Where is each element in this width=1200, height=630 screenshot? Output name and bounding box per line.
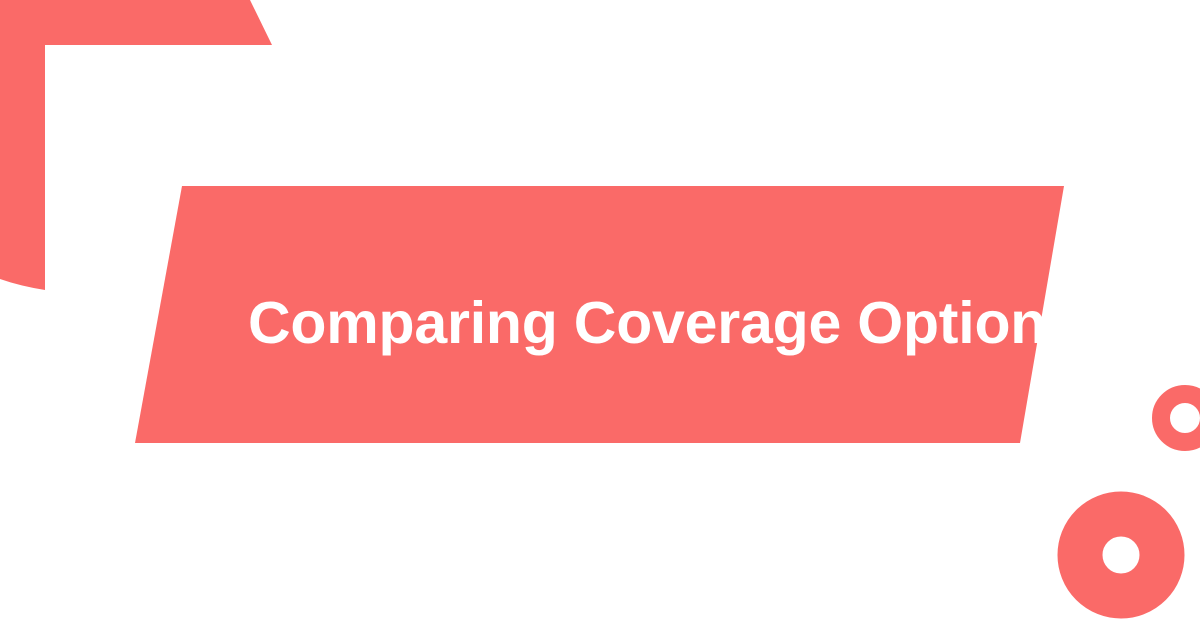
small-ring-icon <box>1161 394 1200 442</box>
share-card-canvas: Comparing Coverage Options <box>0 0 1200 630</box>
banner-title: Comparing Coverage Options <box>248 292 1008 354</box>
large-ring-icon <box>1080 514 1162 596</box>
